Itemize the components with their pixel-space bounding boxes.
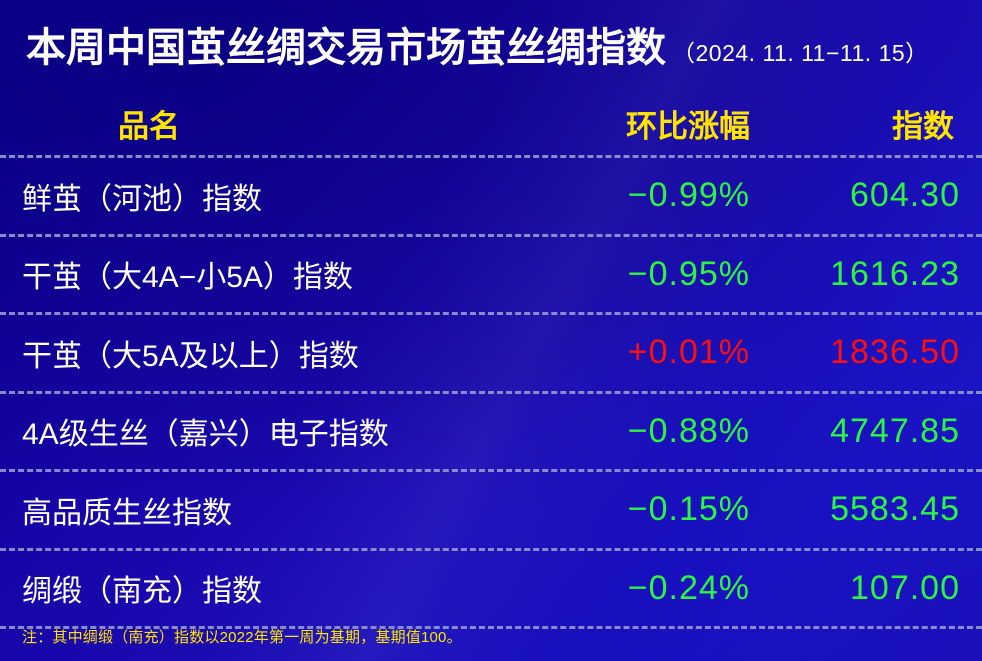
table-row: 4A级生丝（嘉兴）电子指数 −0.88% 4747.85: [0, 394, 982, 470]
title-date-range: （2024. 11. 11−11. 15）: [672, 42, 929, 65]
row-index: 1836.50: [750, 333, 982, 372]
row-name: 鲜茧（河池）指数: [0, 174, 535, 218]
row-change: −0.99%: [535, 176, 750, 215]
row-name: 高品质生丝指数: [0, 488, 535, 532]
column-header-change: 环比涨幅: [535, 101, 750, 146]
table-row: 干茧（大4A−小5A）指数 −0.95% 1616.23: [0, 237, 982, 313]
title-main-text: 本周中国茧丝绸交易市场茧丝绸指数: [26, 28, 666, 68]
table-row: 高品质生丝指数 −0.15% 5583.45: [0, 472, 982, 548]
row-change: −0.88%: [535, 412, 750, 451]
footnote: 注：其中绸缎（南充）指数以2022年第一周为基期，基期值100。: [22, 626, 462, 647]
row-name: 干茧（大5A及以上）指数: [0, 331, 535, 375]
row-change: +0.01%: [535, 333, 750, 372]
table-header-row: 品名 环比涨幅 指数: [0, 92, 982, 155]
index-table: 品名 环比涨幅 指数 鲜茧（河池）指数 −0.99% 604.30 干茧（大4A…: [0, 92, 982, 629]
row-name: 干茧（大4A−小5A）指数: [0, 252, 535, 296]
table-row: 鲜茧（河池）指数 −0.99% 604.30: [0, 158, 982, 234]
column-header-name: 品名: [0, 101, 535, 146]
row-index: 1616.23: [750, 255, 982, 294]
row-name: 4A级生丝（嘉兴）电子指数: [0, 409, 535, 453]
page-title: 本周中国茧丝绸交易市场茧丝绸指数 （2024. 11. 11−11. 15）: [26, 28, 972, 80]
row-index: 5583.45: [750, 490, 982, 529]
row-index: 107.00: [750, 569, 982, 608]
row-change: −0.15%: [535, 490, 750, 529]
row-change: −0.95%: [535, 255, 750, 294]
column-header-index: 指数: [750, 101, 982, 146]
row-change: −0.24%: [535, 569, 750, 608]
row-index: 604.30: [750, 176, 982, 215]
row-name: 绸缎（南充）指数: [0, 566, 535, 610]
silk-index-board: 本周中国茧丝绸交易市场茧丝绸指数 （2024. 11. 11−11. 15） 品…: [0, 0, 982, 661]
table-row: 绸缎（南充）指数 −0.24% 107.00: [0, 551, 982, 627]
table-row: 干茧（大5A及以上）指数 +0.01% 1836.50: [0, 315, 982, 391]
row-index: 4747.85: [750, 412, 982, 451]
